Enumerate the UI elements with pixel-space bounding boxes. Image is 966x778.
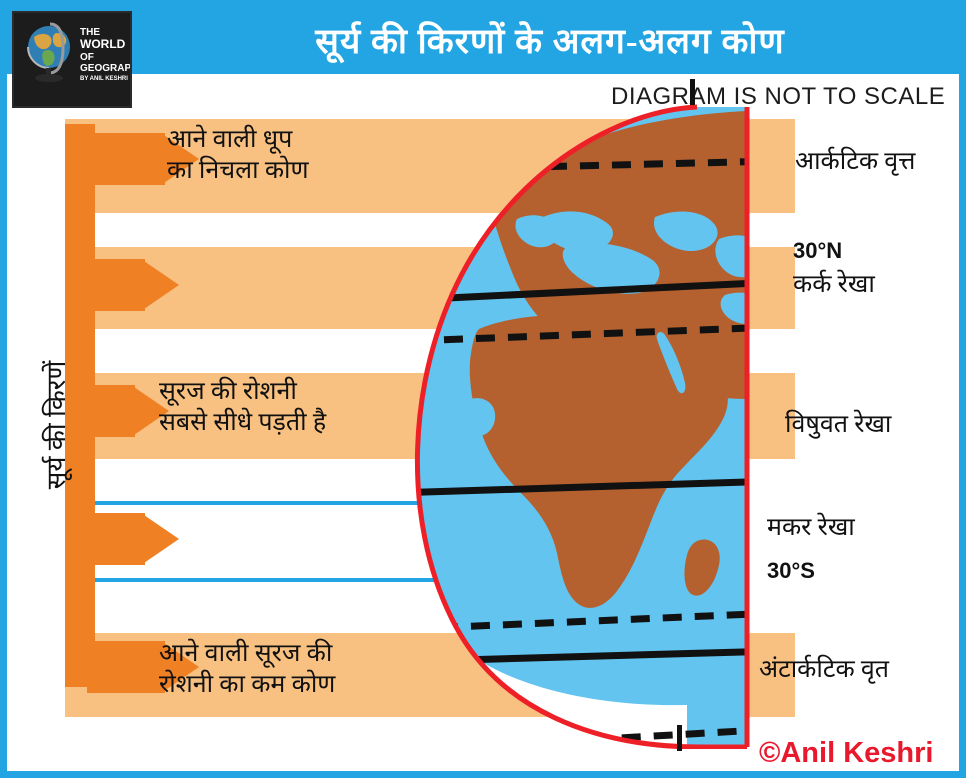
ray-band-bottom-label-line2: रोशनी का कम कोण xyxy=(159,670,335,701)
ray-band-top-label-line1: आने वाली धूप xyxy=(167,125,309,156)
label-lat-30n: 30°N xyxy=(793,238,842,264)
copyright-text: ©Anil Keshri xyxy=(759,737,933,770)
label-antarctic-circle: अंटार्कटिक वृत xyxy=(759,655,889,685)
ray-band-equator-label-line2: सबसे सीधे पड़ती है xyxy=(159,408,326,439)
label-arctic-circle: आर्कटिक वृत्त xyxy=(795,147,915,177)
page-title: सूर्य की किरणों के अलग-अलग कोण xyxy=(127,7,966,74)
sea-notch-6 xyxy=(752,206,774,224)
logo: THE WORLD OF GEOGRAPHY BY ANIL KESHRI xyxy=(12,11,132,108)
label-tropic-of-cancer: कर्क रेखा xyxy=(793,270,875,300)
logo-text: THE WORLD OF GEOGRAPHY BY ANIL KESHRI xyxy=(80,27,128,83)
ray-band-bottom-label: आने वाली सूरज की रोशनी का कम कोण xyxy=(159,639,335,700)
logo-line-4: GEOGRAPHY xyxy=(80,63,128,74)
north-pole-axis-tick xyxy=(690,79,695,105)
logo-line-2: WORLD xyxy=(80,38,128,51)
ray-band-top-label: आने वाली धूप का निचला कोण xyxy=(167,125,309,186)
ray-band-top-label-line2: का निचला कोण xyxy=(167,156,309,187)
label-equator: विषुवत रेखा xyxy=(785,410,891,440)
logo-line-3: OF xyxy=(80,52,128,63)
ray-band-equator-label-line1: सूरज की रोशनी xyxy=(159,377,326,408)
diagram-canvas: सूर्य की किरणों के अलग-अलग कोण THE WORLD… xyxy=(0,0,966,778)
ray-band-equator-label: सूरज की रोशनी सबसे सीधे पड़ती है xyxy=(159,377,326,438)
logo-line-5: BY ANIL KESHRI xyxy=(80,76,128,83)
globe-icon xyxy=(20,21,80,83)
ray-band-bottom-label-line1: आने वाली सूरज की xyxy=(159,639,335,670)
label-lat-30s: 30°S xyxy=(767,558,815,584)
sun-rays-axis-label: सूर्य की किरणें xyxy=(37,315,73,535)
earth-globe xyxy=(367,99,807,749)
south-pole-axis-tick xyxy=(677,725,682,751)
label-tropic-of-capricorn: मकर रेखा xyxy=(767,513,855,543)
